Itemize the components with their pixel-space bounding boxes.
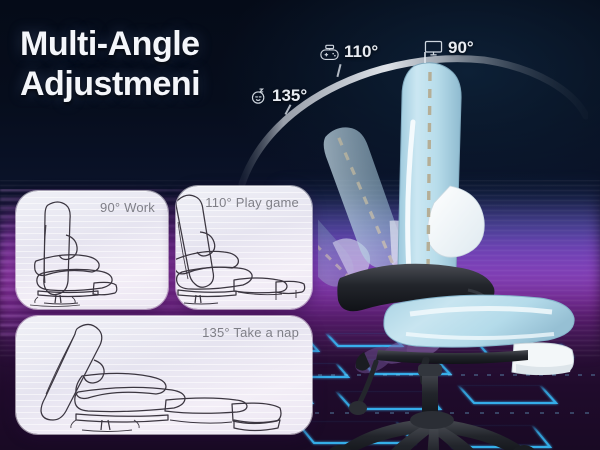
chair-sketch-135 [16, 316, 312, 434]
chair-sketch-110 [176, 186, 312, 309]
monitor-icon [424, 40, 443, 57]
product-chair-photo [318, 58, 600, 450]
headline-line-2: Adjustmeni [20, 64, 200, 104]
headline-line-1: Multi-Angle [20, 24, 200, 64]
chair-seat [384, 295, 574, 347]
angle-badge-work-value: 90° [448, 38, 474, 58]
angle-badge-nap-value: 135° [272, 86, 307, 106]
chair-base [338, 411, 527, 450]
inset-panel-game[interactable]: 110° Play game [176, 186, 312, 309]
inset-panel-work[interactable]: 90° Work [16, 191, 168, 309]
angle-badge-work: 90° [424, 38, 474, 58]
angle-badge-nap: 135° [250, 86, 307, 106]
angle-badge-game: 110° [320, 42, 378, 62]
promo-banner: 135° 110° 90° [0, 0, 600, 450]
gamepad-icon [320, 44, 339, 61]
page-title: Multi-Angle Adjustmeni [20, 24, 200, 104]
product-chair-svg [318, 58, 600, 450]
chair-sketch-90 [16, 191, 168, 309]
sleeping-face-icon [250, 88, 267, 105]
chair-mechanism [349, 350, 528, 415]
inset-panel-nap[interactable]: 135° Take a nap [16, 316, 312, 434]
angle-badge-game-value: 110° [344, 42, 378, 62]
